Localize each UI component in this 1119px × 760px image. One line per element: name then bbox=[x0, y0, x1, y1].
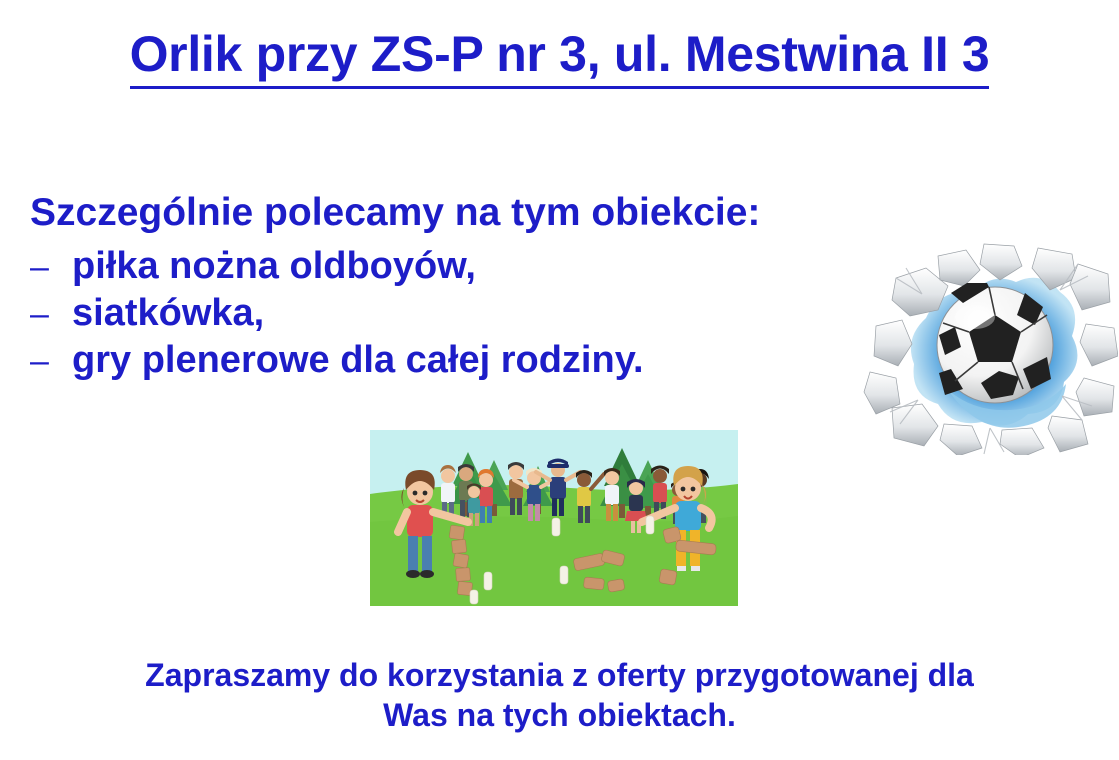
lead-heading: Szczególnie polecamy na tym obiekcie: bbox=[30, 190, 760, 236]
slide-canvas: Orlik przy ZS-P nr 3, ul. Mestwina II 3 … bbox=[0, 0, 1119, 760]
dash-icon: – bbox=[30, 291, 72, 338]
list-item: – siatkówka, bbox=[30, 290, 890, 337]
closing-line-1: Zapraszamy do korzystania z oferty przyg… bbox=[0, 655, 1119, 695]
closing-line-2: Was na tych obiektach. bbox=[0, 695, 1119, 735]
soccer-ball-icon bbox=[862, 240, 1118, 455]
page-title-text: Orlik przy ZS-P nr 3, ul. Mestwina II 3 bbox=[130, 24, 990, 89]
dash-icon: – bbox=[30, 338, 72, 385]
outdoor-game-illustration bbox=[370, 430, 738, 606]
list-item-label: gry plenerowe dla całej rodziny. bbox=[72, 337, 644, 384]
list-item-label: siatkówka, bbox=[72, 290, 264, 337]
list-item: – piłka nożna oldboyów, bbox=[30, 243, 890, 290]
recommendation-list: – piłka nożna oldboyów, – siatkówka, – g… bbox=[30, 243, 890, 384]
closing-message: Zapraszamy do korzystania z oferty przyg… bbox=[0, 655, 1119, 735]
list-item: – gry plenerowe dla całej rodziny. bbox=[30, 337, 890, 384]
list-item-label: piłka nożna oldboyów, bbox=[72, 243, 476, 290]
page-title: Orlik przy ZS-P nr 3, ul. Mestwina II 3 bbox=[0, 24, 1119, 89]
dash-icon: – bbox=[30, 244, 72, 291]
